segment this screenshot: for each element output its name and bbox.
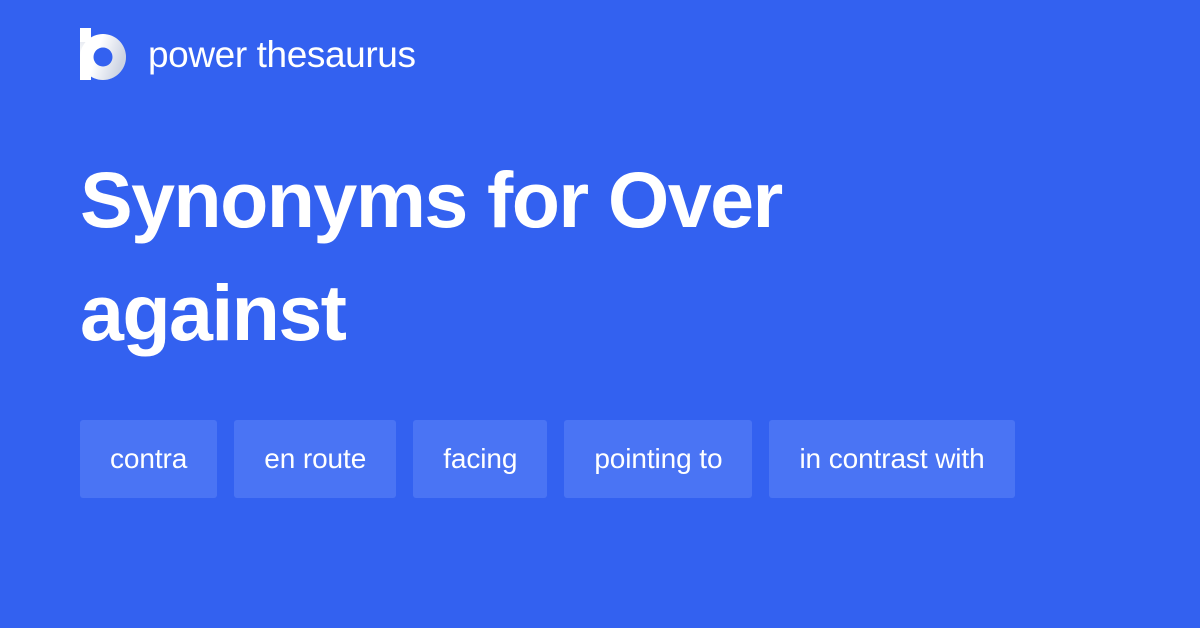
share-card: power thesaurus Synonyms for Over agains…	[0, 0, 1200, 628]
brand-name: power thesaurus	[148, 36, 416, 73]
page-title-line-1: Synonyms for Over	[80, 155, 782, 244]
synonym-chip[interactable]: pointing to	[564, 420, 752, 498]
power-thesaurus-b-logo-icon	[80, 28, 126, 80]
page-title: Synonyms for Over against	[80, 143, 1120, 369]
synonym-chip-list: contra en route facing pointing to in co…	[80, 420, 1140, 498]
synonym-chip[interactable]: en route	[234, 420, 396, 498]
synonym-chip[interactable]: contra	[80, 420, 217, 498]
page-title-line-2: against	[80, 268, 345, 357]
brand-logo[interactable]: power thesaurus	[80, 28, 416, 80]
synonym-chip[interactable]: facing	[413, 420, 547, 498]
synonym-chip[interactable]: in contrast with	[769, 420, 1014, 498]
